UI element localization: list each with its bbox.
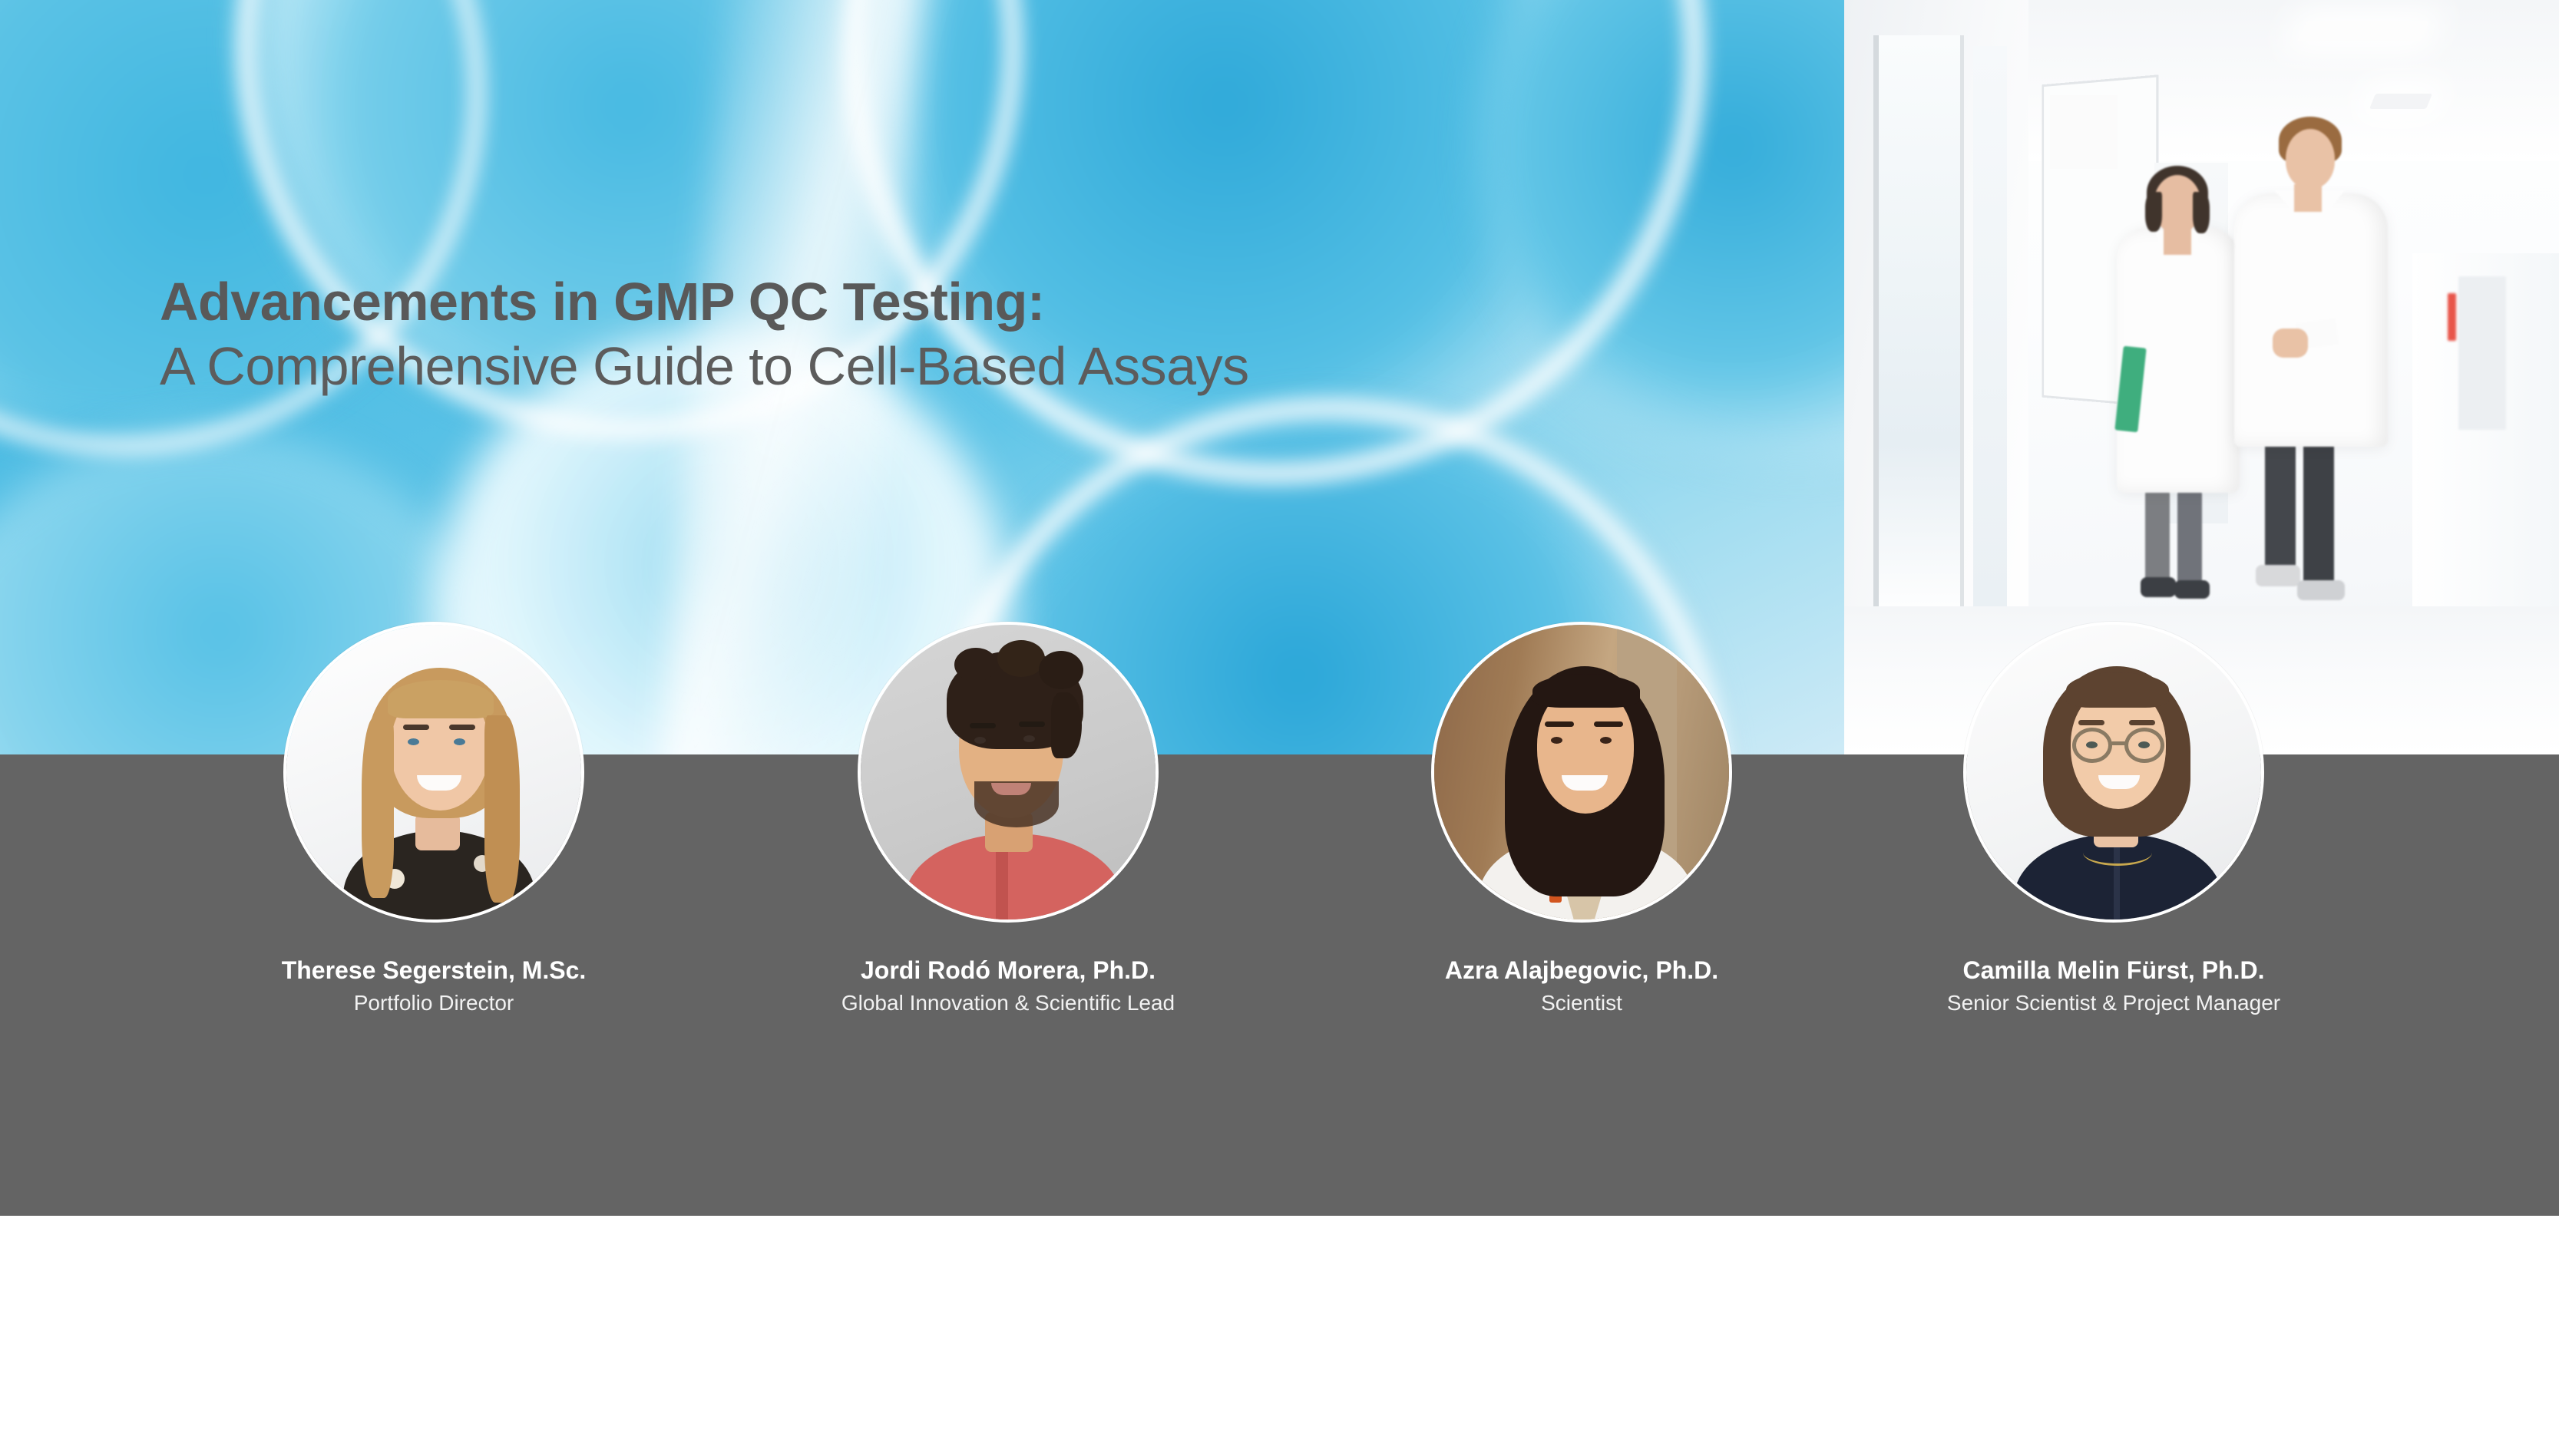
presentation-title-slide: Advancements in GMP QC Testing: A Compre… [0,0,2559,1456]
eyebrow [970,723,996,728]
eye [1551,737,1562,744]
avatar [1963,622,2264,923]
eyebrow [1019,721,1045,727]
eyebrow [403,725,429,730]
footer [0,1216,2559,1456]
speaker-card-3: Azra Alajbegovic, Ph.D. Scientist [1367,622,1797,1017]
hair-curl [997,640,1045,677]
avatar [283,622,584,923]
avatar [1431,622,1732,923]
neck [415,814,460,850]
speaker-card-2: Jordi Rodó Morera, Ph.D. Global Innovati… [793,622,1223,1017]
eye [2086,741,2098,748]
hair-front [2066,672,2169,708]
speaker-role: Senior Scientist & Project Manager [1899,989,2329,1017]
glasses-bridge [2111,741,2128,745]
avatar [858,622,1159,923]
eyebrow [2078,720,2104,725]
eye [1600,737,1612,744]
hair-curl [1039,651,1083,689]
eyebrow [2129,720,2155,725]
speaker-name: Camilla Melin Fürst, Ph.D. [1899,955,2329,986]
speaker-card-4: Camilla Melin Fürst, Ph.D. Senior Scient… [1899,622,2329,1017]
speaker-name: Azra Alajbegovic, Ph.D. [1367,955,1797,986]
eye [974,737,986,744]
eye [454,738,465,745]
speaker-role: Scientist [1367,989,1797,1017]
eyebrow [1545,721,1574,727]
hair-strand [362,717,394,898]
hair-side [1051,692,1082,758]
speaker-list: Therese Segerstein, M.Sc. Portfolio Dire… [0,0,2559,1216]
eye [408,738,419,745]
eye [2138,741,2150,748]
hair-front [1532,674,1640,708]
eyebrow [449,725,475,730]
hair-strand [484,715,520,903]
eyebrow [1594,721,1623,727]
speaker-card-1: Therese Segerstein, M.Sc. Portfolio Dire… [219,622,649,1017]
bangs [388,680,494,718]
speaker-name: Therese Segerstein, M.Sc. [219,955,649,986]
hair-curl [954,648,997,682]
eye [1023,735,1035,742]
speaker-name: Jordi Rodó Morera, Ph.D. [793,955,1223,986]
mouth [991,783,1031,795]
speaker-role: Portfolio Director [219,989,649,1017]
speaker-role: Global Innovation & Scientific Lead [793,989,1223,1017]
